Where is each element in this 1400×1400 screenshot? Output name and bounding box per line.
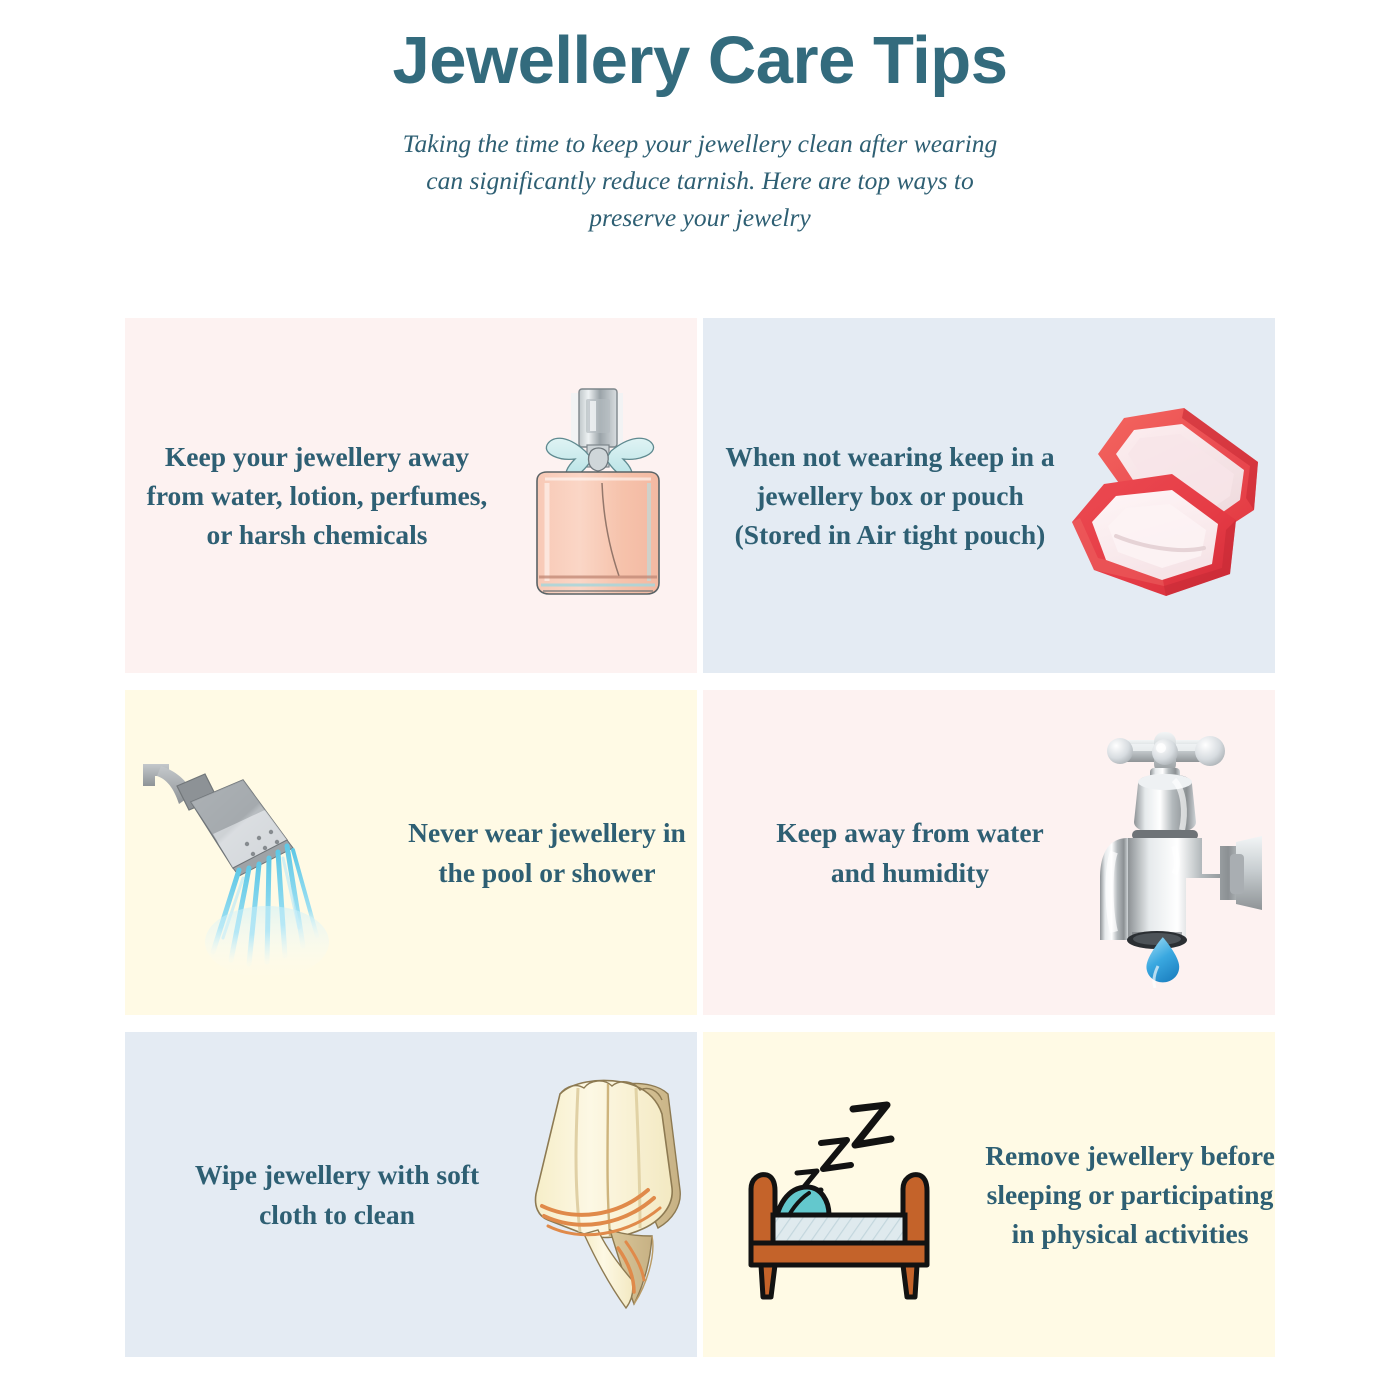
- tip-card-1-text: Keep your jewellery away from water, lot…: [137, 437, 497, 554]
- infographic-page: Jewellery Care Tips Taking the time to k…: [0, 0, 1400, 1400]
- tip-card-4-text: Keep away from water and humidity: [765, 813, 1055, 891]
- shower-head-icon: [125, 728, 375, 978]
- tip-card-5-text: Wipe jewellery with soft cloth to clean: [177, 1155, 497, 1233]
- tip-card-3[interactable]: Never wear jewellery in the pool or show…: [125, 690, 697, 1015]
- tip-card-1[interactable]: Keep your jewellery away from water, lot…: [125, 318, 697, 673]
- page-title: Jewellery Care Tips: [0, 26, 1400, 96]
- ring-box-icon: [1055, 388, 1275, 603]
- tips-grid: Keep your jewellery away from water, lot…: [125, 318, 1275, 1357]
- tip-card-2-text: When not wearing keep in a jewellery box…: [725, 437, 1055, 554]
- page-subtitle: Taking the time to keep your jewellery c…: [395, 126, 1005, 236]
- perfume-bottle-icon: [497, 371, 697, 621]
- tip-card-6-text: Remove jewellery before sleeping or part…: [985, 1136, 1275, 1253]
- header: Jewellery Care Tips Taking the time to k…: [0, 0, 1400, 237]
- soft-cloth-icon: [517, 1070, 697, 1320]
- tip-card-5[interactable]: Wipe jewellery with soft cloth to clean: [125, 1032, 697, 1357]
- bed-sleep-icon: [727, 1087, 967, 1302]
- tip-card-2[interactable]: When not wearing keep in a jewellery box…: [703, 318, 1275, 673]
- tip-card-4[interactable]: Keep away from water and humidity: [703, 690, 1275, 1015]
- tip-card-3-text: Never wear jewellery in the pool or show…: [397, 813, 697, 891]
- tip-card-6[interactable]: Remove jewellery before sleeping or part…: [703, 1032, 1275, 1357]
- faucet-drip-icon: [1065, 718, 1275, 988]
